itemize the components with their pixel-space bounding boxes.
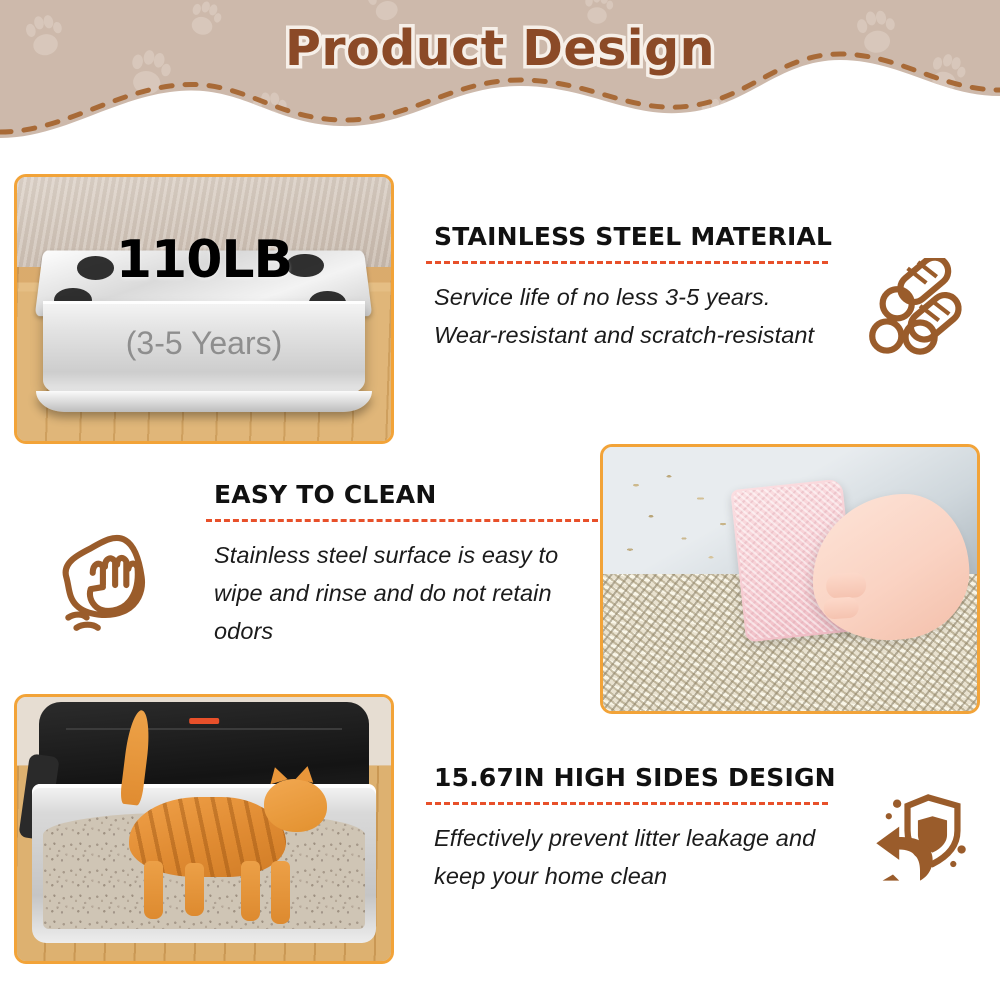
photo-hand-wiping-surface [600,444,980,714]
feature-high-sides-design: 15.67IN HIGH SIDES DESIGN Effectively pr… [434,763,834,895]
cat-leg [185,863,204,916]
feature-divider [206,519,598,522]
feature-description: Service life of no less 3-5 years. Wear-… [434,278,834,354]
weight-capacity-label: 110LB [17,230,391,290]
feature-description: Stainless steel surface is easy to wipe … [214,536,604,650]
cat-leg [144,861,163,919]
feature-title: EASY TO CLEAN [214,480,604,509]
hood-latch [189,718,219,724]
photo-steel-box-weight: 110LB (3-5 Years) [14,174,394,444]
cat-leg [271,861,290,924]
cat-head [264,779,328,832]
page-header: Product Design [0,0,1000,150]
hood-seam [66,728,342,730]
feature-divider [426,802,828,805]
cat-leg [241,861,260,922]
feature-title: 15.67IN HIGH SIDES DESIGN [434,763,834,792]
stacked-logs-icon [866,258,970,362]
feature-divider [426,261,828,264]
shield-deflect-icon [868,785,972,889]
wiping-hand-icon [52,528,164,640]
page-title: Product Design [0,20,1000,77]
feature-easy-to-clean: EASY TO CLEAN Stainless steel surface is… [214,480,604,650]
feature-stainless-steel-material: STAINLESS STEEL MATERIAL Service life of… [434,222,834,354]
feature-title: STAINLESS STEEL MATERIAL [434,222,834,251]
photo-cat-in-litter-box [14,694,394,964]
service-life-label: (3-5 Years) [17,325,391,362]
feature-description: Effectively prevent litter leakage and k… [434,819,834,895]
litter-box-rim [36,391,373,412]
